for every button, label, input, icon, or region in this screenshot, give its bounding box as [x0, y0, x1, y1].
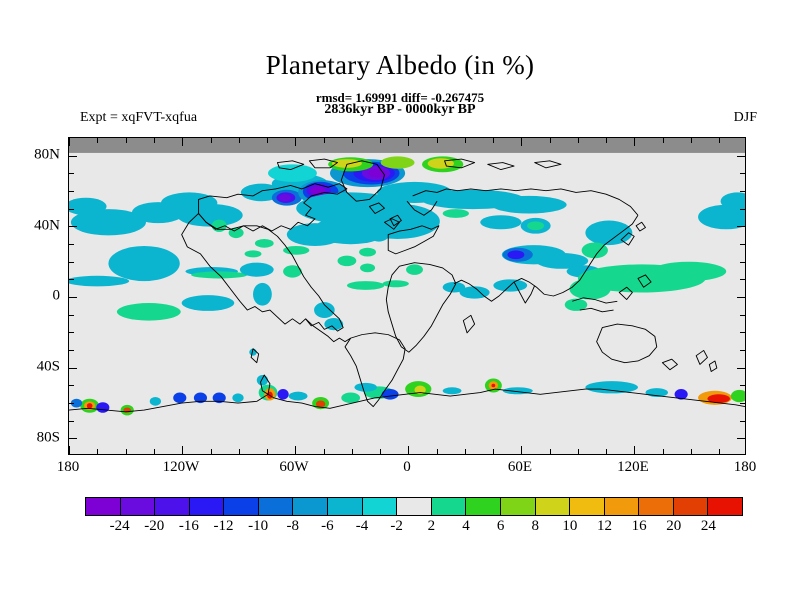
colorbar-tick-0: -24: [110, 518, 130, 535]
y-tick-label-2: 0: [18, 288, 60, 305]
north-polar-band: [69, 138, 745, 153]
colorbar-tick-14: 12: [597, 518, 612, 535]
colorbar-tick-16: 20: [666, 518, 681, 535]
experiment-label: Expt = xqFVT-xqfua: [80, 110, 197, 126]
colorbar-swatch-7: [328, 498, 363, 515]
colorbar-swatch-2: [155, 498, 190, 515]
y-tick-label-4: 80S: [18, 430, 60, 447]
colorbar-swatch-3: [190, 498, 225, 515]
colorbar-tick-5: -8: [287, 518, 300, 535]
colorbar-tick-9: 2: [428, 518, 436, 535]
colorbar-tick-13: 10: [562, 518, 577, 535]
colorbar-swatch-18: [708, 498, 742, 515]
colorbar-tick-17: 24: [701, 518, 716, 535]
world-map-anomaly: [69, 138, 745, 454]
colorbar-swatch-10: [432, 498, 467, 515]
colorbar-swatch-12: [501, 498, 536, 515]
colorbar-tick-7: -4: [356, 518, 369, 535]
colorbar-tick-1: -20: [144, 518, 164, 535]
colorbar-tick-4: -10: [248, 518, 268, 535]
colorbar-swatch-1: [121, 498, 156, 515]
colorbar-swatch-0: [86, 498, 121, 515]
map-plot-area: [68, 137, 746, 455]
colorbar-swatch-17: [674, 498, 709, 515]
colorbar: [85, 497, 743, 516]
colorbar-tick-11: 6: [497, 518, 505, 535]
x-tick-label-6: 180: [734, 459, 757, 476]
colorbar-tick-8: -2: [390, 518, 403, 535]
x-tick-label-3: 0: [403, 459, 411, 476]
y-tick-label-0: 80N: [18, 147, 60, 164]
colorbar-swatch-9: [397, 498, 432, 515]
x-tick-label-2: 60W: [279, 459, 308, 476]
y-tick-label-1: 40N: [18, 218, 60, 235]
colorbar-swatch-13: [536, 498, 571, 515]
colorbar-swatch-4: [224, 498, 259, 515]
x-tick-label-4: 60E: [508, 459, 532, 476]
colorbar-tick-labels: -24-20-16-12-10-8-6-4-224681012162024: [85, 518, 743, 540]
x-tick-label-0: 180: [57, 459, 80, 476]
x-tick-label-1: 120W: [163, 459, 200, 476]
colorbar-swatch-14: [570, 498, 605, 515]
colorbar-swatch-5: [259, 498, 294, 515]
colorbar-swatch-16: [639, 498, 674, 515]
colorbar-swatch-11: [466, 498, 501, 515]
y-tick-label-3: 40S: [18, 359, 60, 376]
colorbar-tick-3: -12: [214, 518, 234, 535]
page-title: Planetary Albedo (in %): [0, 50, 800, 81]
season-label: DJF: [734, 110, 757, 126]
colorbar-tick-6: -6: [321, 518, 334, 535]
x-tick-label-5: 120E: [617, 459, 649, 476]
colorbar-swatch-8: [363, 498, 398, 515]
colorbar-tick-10: 4: [462, 518, 470, 535]
colorbar-swatch-15: [605, 498, 640, 515]
colorbar-tick-15: 16: [632, 518, 647, 535]
colorbar-tick-12: 8: [531, 518, 539, 535]
albedo-figure: Planetary Albedo (in %) rmsd= 1.69991 di…: [0, 0, 800, 600]
colorbar-swatch-6: [293, 498, 328, 515]
colorbar-tick-2: -16: [179, 518, 199, 535]
